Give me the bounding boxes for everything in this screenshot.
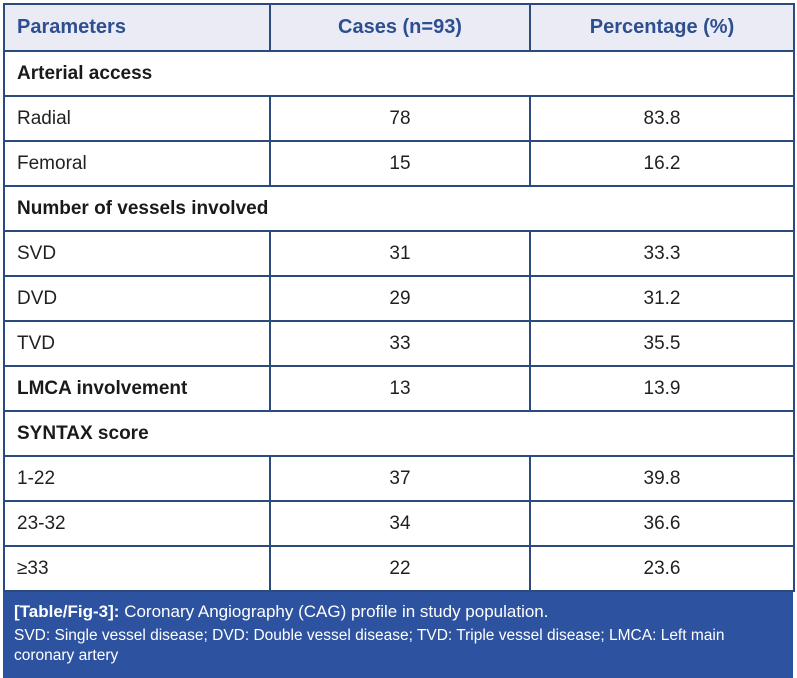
table-row: LMCA involvement1313.9 [4,366,794,411]
cag-profile-table: Parameters Cases (n=93) Percentage (%) A… [3,3,795,592]
cell-percentage: 83.8 [530,96,794,141]
caption-figure-tag: [Table/Fig-3]: [14,602,119,621]
cell-parameter: 23-32 [4,501,270,546]
cell-parameter: LMCA involvement [4,366,270,411]
cell-percentage: 39.8 [530,456,794,501]
cell-cases: 15 [270,141,530,186]
table-row: 1-223739.8 [4,456,794,501]
table-row: SVD3133.3 [4,231,794,276]
table-row: SYNTAX score [4,411,794,456]
table-row: Number of vessels involved [4,186,794,231]
column-header-cases: Cases (n=93) [270,4,530,51]
cell-cases: 78 [270,96,530,141]
cell-cases: 13 [270,366,530,411]
cell-parameter: Femoral [4,141,270,186]
cell-parameter: 1-22 [4,456,270,501]
table-header-row: Parameters Cases (n=93) Percentage (%) [4,4,794,51]
table-row: DVD2931.2 [4,276,794,321]
cell-cases: 22 [270,546,530,591]
table-caption: [Table/Fig-3]: Coronary Angiography (CAG… [3,592,793,678]
table-row: Femoral1516.2 [4,141,794,186]
cell-cases: 37 [270,456,530,501]
table-row: Radial7883.8 [4,96,794,141]
cell-parameter: SVD [4,231,270,276]
cell-parameter: DVD [4,276,270,321]
cell-percentage: 16.2 [530,141,794,186]
cell-percentage: 35.5 [530,321,794,366]
table-body: Arterial accessRadial7883.8Femoral1516.2… [4,51,794,591]
caption-abbreviations: SVD: Single vessel disease; DVD: Double … [14,626,783,666]
table-figure: Parameters Cases (n=93) Percentage (%) A… [0,3,797,647]
table-row: Arterial access [4,51,794,96]
table-row: 23-323436.6 [4,501,794,546]
table-row: TVD3335.5 [4,321,794,366]
cell-percentage: 13.9 [530,366,794,411]
cell-percentage: 33.3 [530,231,794,276]
column-header-percentage: Percentage (%) [530,4,794,51]
cell-percentage: 23.6 [530,546,794,591]
table-header: Parameters Cases (n=93) Percentage (%) [4,4,794,51]
cell-cases: 33 [270,321,530,366]
cell-parameter: SYNTAX score [4,411,794,456]
cell-percentage: 31.2 [530,276,794,321]
cell-parameter: Radial [4,96,270,141]
cell-parameter: Arterial access [4,51,794,96]
cell-parameter: Number of vessels involved [4,186,794,231]
cell-cases: 31 [270,231,530,276]
caption-title-text: Coronary Angiography (CAG) profile in st… [124,602,548,621]
cell-cases: 34 [270,501,530,546]
cell-parameter: TVD [4,321,270,366]
caption-title-line: [Table/Fig-3]: Coronary Angiography (CAG… [14,601,783,624]
cell-percentage: 36.6 [530,501,794,546]
cell-cases: 29 [270,276,530,321]
column-header-parameters: Parameters [4,4,270,51]
table-row: ≥332223.6 [4,546,794,591]
cell-parameter: ≥33 [4,546,270,591]
